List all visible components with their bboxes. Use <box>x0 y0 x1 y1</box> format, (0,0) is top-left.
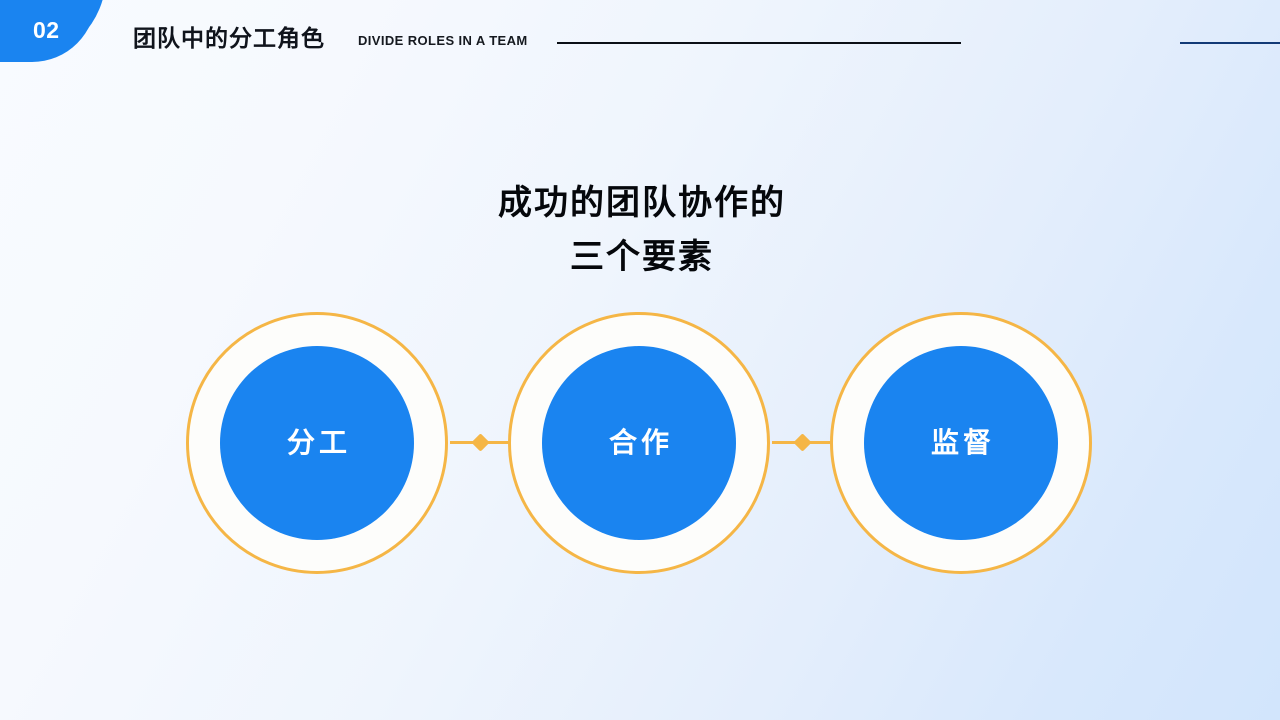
diagram-node-1-core: 分工 <box>220 346 414 540</box>
connector-diamond-1-icon <box>471 433 489 451</box>
three-elements-diagram: 分工 合作 监督 <box>0 0 1280 720</box>
diagram-node-3-label: 监督 <box>927 429 995 457</box>
connector-diamond-2-icon <box>793 433 811 451</box>
slide-canvas: 02 团队中的分工角色 DIVIDE ROLES IN A TEAM 成功的团队… <box>0 0 1280 720</box>
diagram-node-2-label: 合作 <box>605 429 673 457</box>
diagram-node-3[interactable]: 监督 <box>830 312 1092 574</box>
diagram-node-3-core: 监督 <box>864 346 1058 540</box>
diagram-node-1-label: 分工 <box>283 429 351 457</box>
diagram-node-1[interactable]: 分工 <box>186 312 448 574</box>
diagram-node-2[interactable]: 合作 <box>508 312 770 574</box>
section-number-badge: 02 <box>33 17 60 44</box>
diagram-node-2-core: 合作 <box>542 346 736 540</box>
